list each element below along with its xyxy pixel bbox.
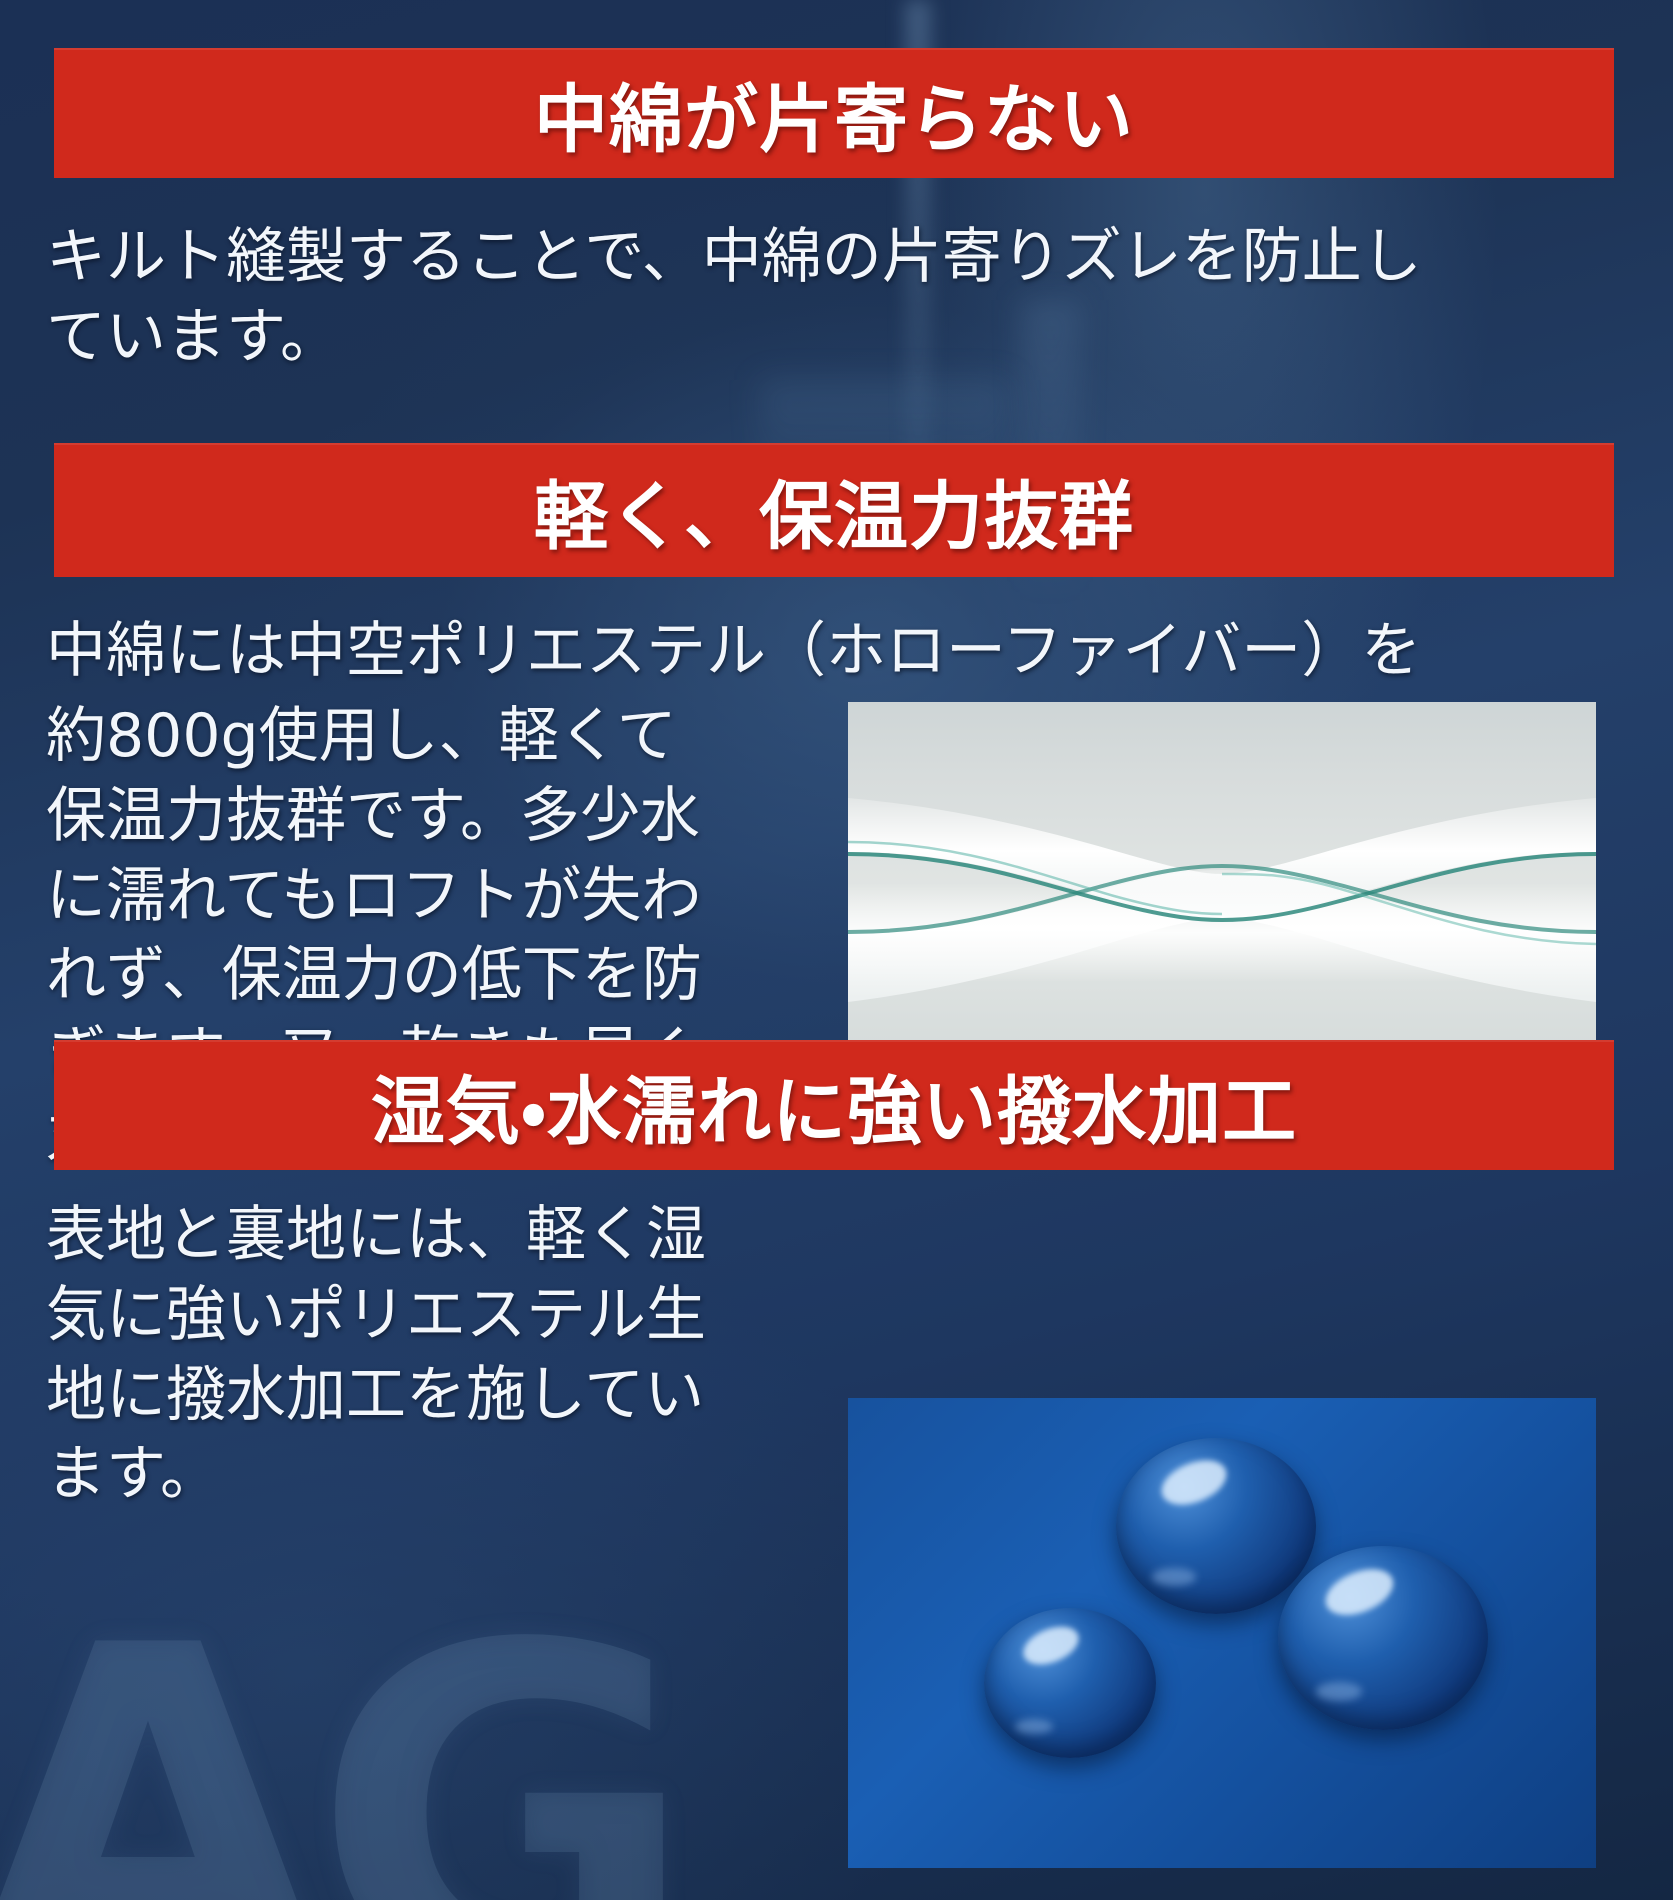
- body-line: キルト縫製することで、中綿の片寄りズレを防止し: [46, 218, 1636, 298]
- body-line: れず、保温力の低下を防: [46, 936, 836, 1016]
- body-line: 表地と裏地には、軽く湿: [46, 1196, 836, 1276]
- water-droplet-photo: [848, 1398, 1596, 1868]
- body-line: 中綿には中空ポリエステル（ホローファイバー）を: [46, 612, 1636, 692]
- banner-label-water-repellent: 湿気・水濡れに強い撥水加工: [371, 1052, 1297, 1159]
- section-lead-warmth: 中綿には中空ポリエステル（ホローファイバー）を: [46, 612, 1636, 692]
- body-line: ています。: [46, 298, 1636, 378]
- banner-label-quilt: 中綿が片寄らない: [534, 60, 1134, 167]
- body-line: ます。: [46, 1435, 836, 1515]
- body-line: 約800g使用し、軽くて: [46, 697, 836, 777]
- section-banner-water-repellent: 湿気・水濡れに強い撥水加工: [54, 1040, 1614, 1170]
- water-droplet: [1116, 1438, 1316, 1614]
- banner-label-warmth: 軽く、保温力抜群: [534, 457, 1134, 564]
- body-line: 地に撥水加工を施してい: [46, 1356, 836, 1436]
- water-droplet: [1278, 1546, 1488, 1730]
- section-body-quilt: キルト縫製することで、中綿の片寄りズレを防止し ています。: [46, 218, 1636, 378]
- water-droplet: [984, 1608, 1156, 1758]
- body-line: 保温力抜群です。多少水: [46, 777, 836, 857]
- section-body-water-repellent: 表地と裏地には、軽く湿 気に強いポリエステル生 地に撥水加工を施してい ます。: [46, 1196, 836, 1515]
- infographic-page: AG 中綿が片寄らない キルト縫製することで、中綿の片寄りズレを防止し ています…: [0, 0, 1673, 1900]
- body-line: に濡れてもロフトが失わ: [46, 857, 836, 937]
- body-line: 気に強いポリエステル生: [46, 1276, 836, 1356]
- section-banner-quilt: 中綿が片寄らない: [54, 48, 1614, 178]
- brand-watermark-ag: AG: [0, 1621, 680, 1900]
- section-banner-warmth: 軽く、保温力抜群: [54, 443, 1614, 577]
